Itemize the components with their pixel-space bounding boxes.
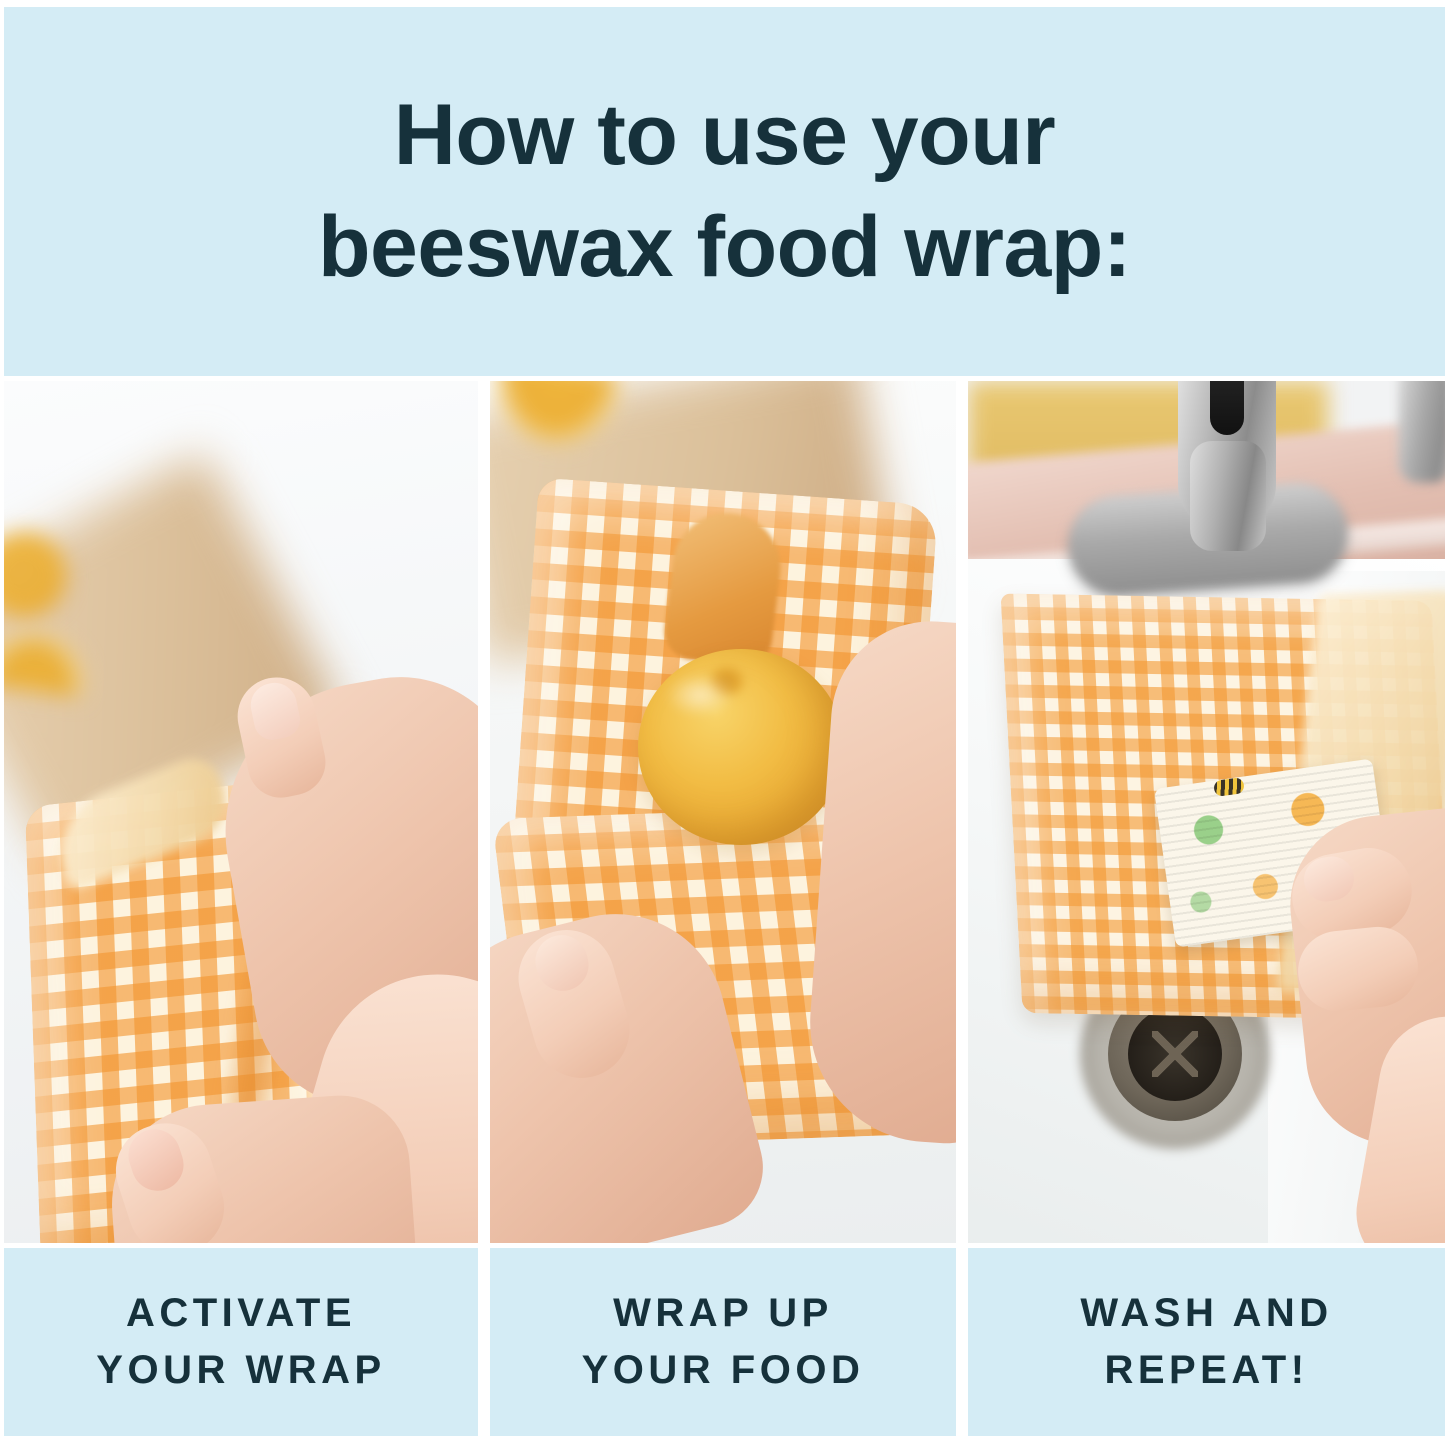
step-2-caption: WRAP UP YOUR FOOD <box>490 1248 956 1436</box>
step-2-caption-line-1: WRAP UP <box>613 1285 833 1342</box>
photo-strip <box>4 381 1445 1243</box>
step-3-photo <box>968 381 1445 1243</box>
step-2-photo <box>490 381 956 1243</box>
step-1-caption-line-1: ACTIVATE <box>126 1285 356 1342</box>
infographic-board: How to use your beeswax food wrap: <box>0 0 1445 1445</box>
step-1-caption: ACTIVATE YOUR WRAP <box>4 1248 478 1436</box>
lemon-highlight <box>665 673 735 717</box>
faucet-spray-face <box>1210 381 1244 435</box>
caption-row: ACTIVATE YOUR WRAP WRAP UP YOUR FOOD WAS… <box>4 1248 1445 1436</box>
page-title-line-2: beeswax food wrap: <box>318 192 1131 304</box>
step-3-caption-line-2: REPEAT! <box>1104 1342 1308 1399</box>
header-band: How to use your beeswax food wrap: <box>4 7 1445 376</box>
step-3-caption-line-1: WASH AND <box>1080 1285 1332 1342</box>
step-3-caption: WASH AND REPEAT! <box>968 1248 1445 1436</box>
drain-crossbar-icon <box>1152 1031 1198 1077</box>
page-title-line-1: How to use your <box>394 80 1055 192</box>
side-sprayer <box>1398 381 1445 483</box>
step-1-caption-line-2: YOUR WRAP <box>96 1342 385 1399</box>
faucet-neck <box>1190 441 1266 551</box>
step-2-caption-line-2: YOUR FOOD <box>582 1342 865 1399</box>
step-1-photo <box>4 381 478 1243</box>
